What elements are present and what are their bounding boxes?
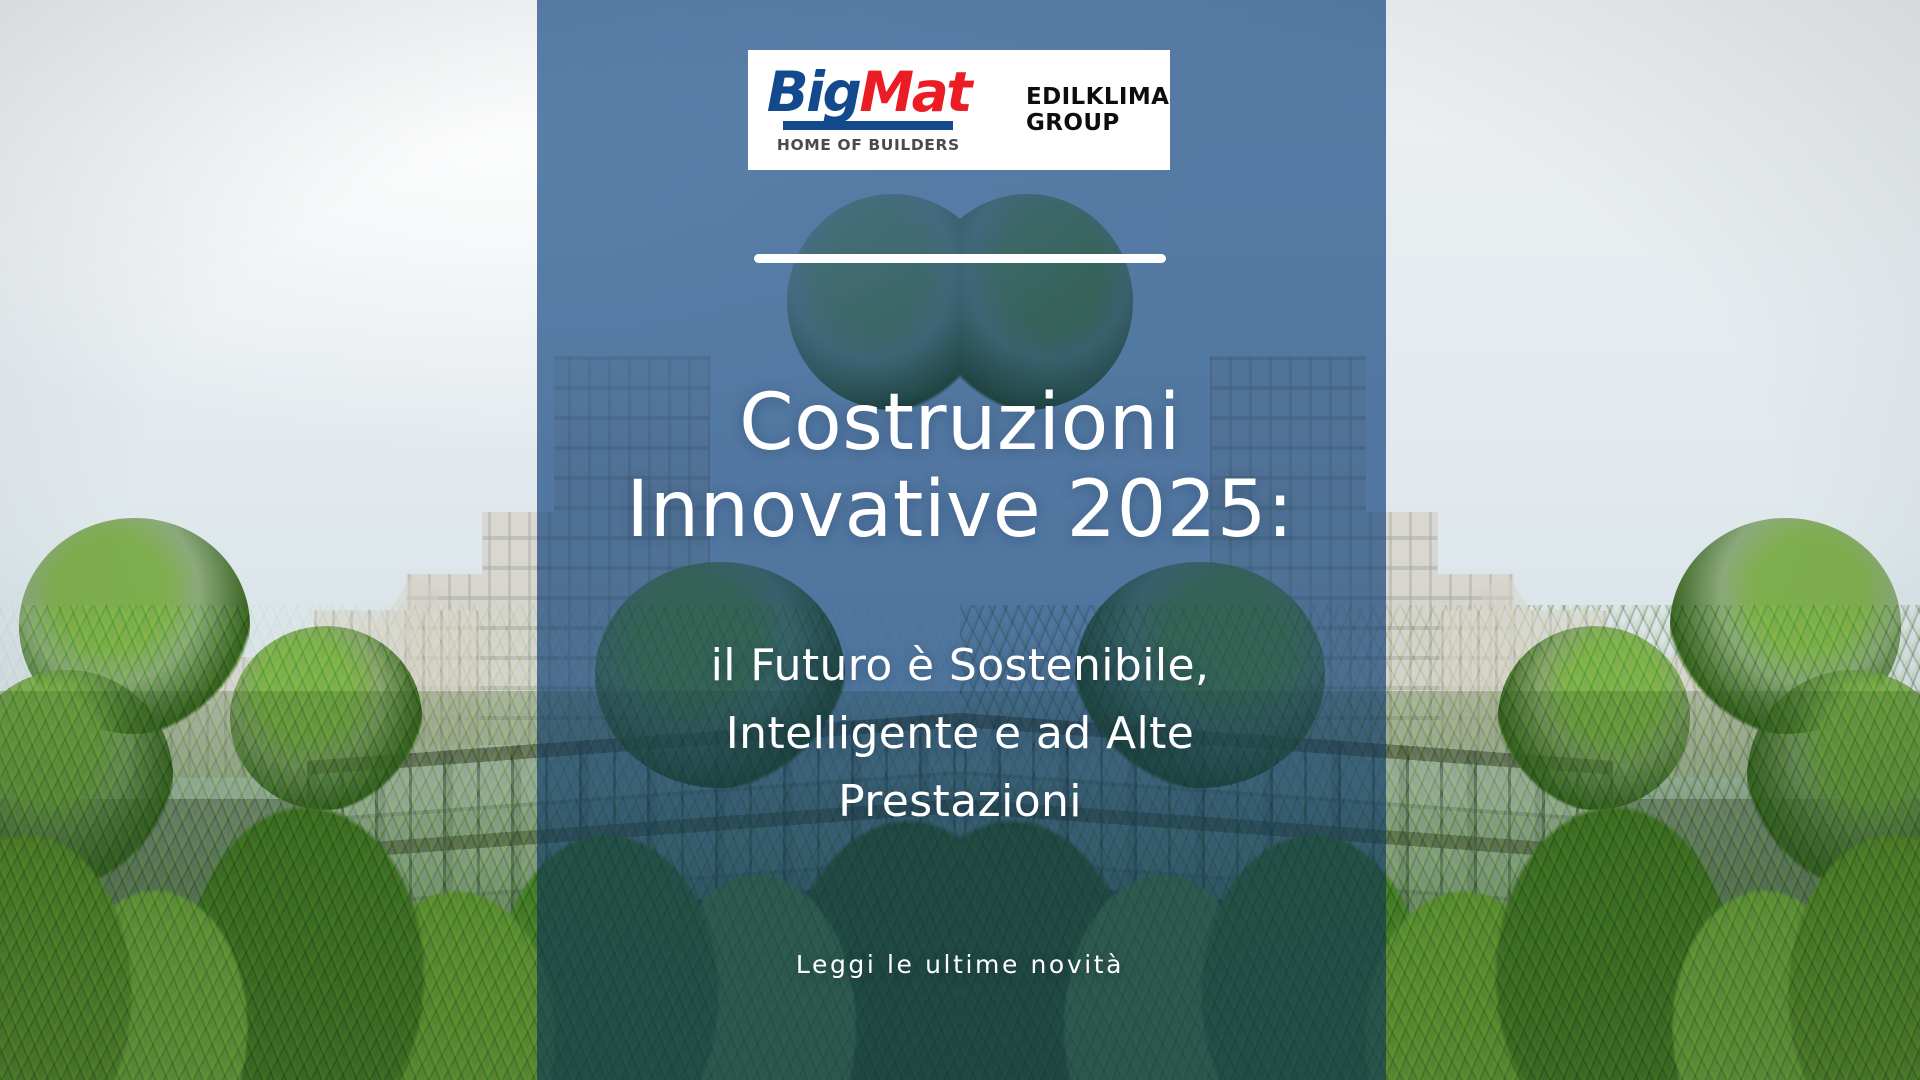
edilklima-group-logo: EDILKLIMA GROUP [1026, 84, 1169, 136]
read-news-cta[interactable]: Leggi le ultime novità [796, 950, 1124, 979]
hero-content: BigMat HOME OF BUILDERS EDILKLIMA GROUP … [0, 0, 1920, 1080]
headline-line-2: Innovative 2025: [370, 467, 1550, 554]
bigmat-underline-bar [783, 121, 953, 130]
header-divider-rule [754, 254, 1166, 263]
hero-headline: Costruzioni Innovative 2025: [370, 380, 1550, 555]
headline-line-1: Costruzioni [370, 380, 1550, 467]
bigmat-wordmark: BigMat [767, 66, 970, 119]
subtitle-line-3: Prestazioni [460, 768, 1460, 836]
hero-subtitle: il Futuro è Sostenibile, Intelligente e … [460, 632, 1460, 837]
bigmat-logo: BigMat HOME OF BUILDERS [749, 66, 986, 154]
edilklima-line-2: GROUP [1026, 110, 1169, 136]
edilklima-line-1: EDILKLIMA [1026, 84, 1169, 110]
bigmat-word-big: Big [767, 66, 860, 119]
subtitle-line-1: il Futuro è Sostenibile, [460, 632, 1460, 700]
bigmat-word-mat: Mat [859, 66, 970, 119]
bigmat-tagline: HOME OF BUILDERS [777, 136, 960, 154]
brand-logo-lockup[interactable]: BigMat HOME OF BUILDERS EDILKLIMA GROUP [748, 50, 1170, 170]
subtitle-line-2: Intelligente e ad Alte [460, 700, 1460, 768]
